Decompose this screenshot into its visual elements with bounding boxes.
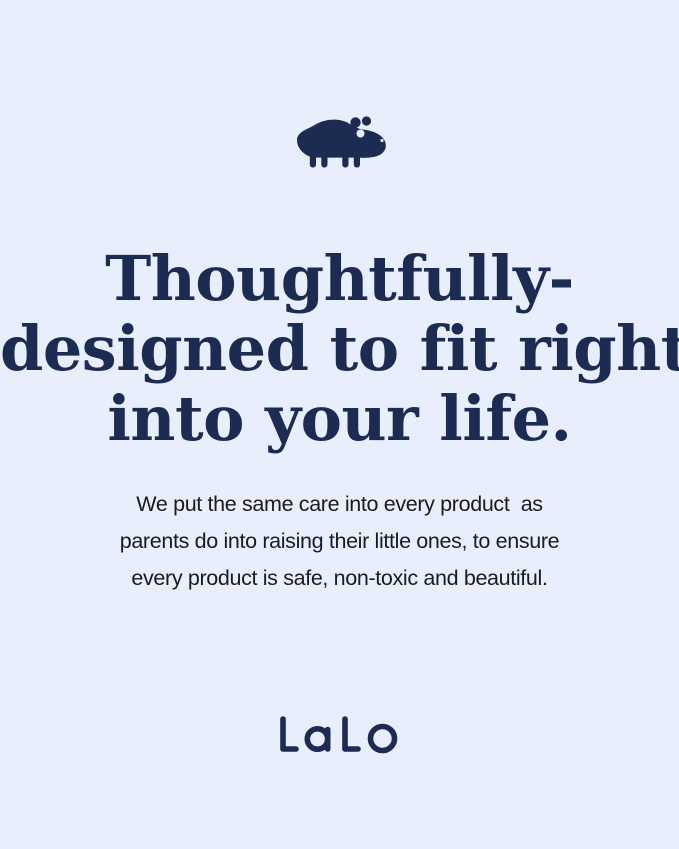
body-line-2: parents do into raising their little one… — [0, 523, 679, 560]
page-headline: Thoughtfully- designed to fit right into… — [0, 244, 679, 454]
headline-line-3: into your life. — [0, 384, 679, 454]
body-paragraph: We put the same care into every product … — [0, 486, 679, 597]
lalo-wordmark — [278, 715, 402, 757]
promo-poster: Thoughtfully- designed to fit right into… — [0, 0, 679, 849]
body-line-1: We put the same care into every product … — [0, 486, 679, 523]
body-line-3: every product is safe, non-toxic and bea… — [0, 560, 679, 597]
headline-line-2: designed to fit right — [0, 314, 679, 384]
headline-line-1: Thoughtfully- — [0, 244, 679, 314]
hippo-logo-mark — [292, 113, 388, 175]
